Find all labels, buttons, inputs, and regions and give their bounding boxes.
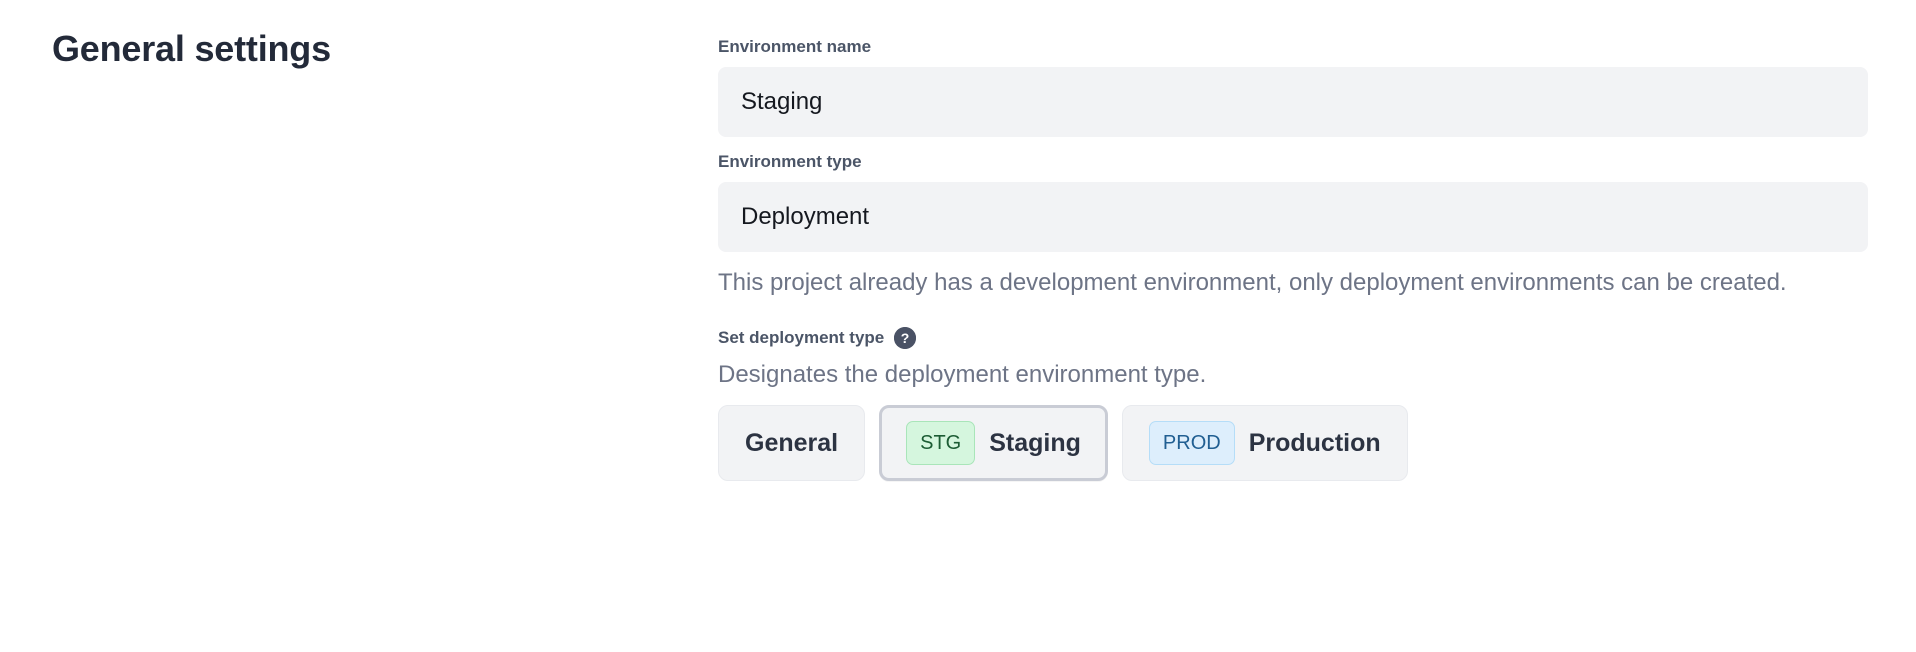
environment-type-input[interactable] [718, 182, 1868, 252]
environment-type-label: Environment type [718, 151, 1868, 173]
environment-name-field-group: Environment name [718, 36, 1868, 137]
deployment-option-general[interactable]: General [718, 405, 865, 481]
prod-badge: PROD [1149, 421, 1235, 465]
deployment-option-staging[interactable]: STG Staging [879, 405, 1108, 481]
general-settings-page: General settings Environment name Enviro… [0, 0, 1916, 652]
question-mark-icon[interactable]: ? [894, 327, 916, 349]
deployment-type-description: Designates the deployment environment ty… [718, 359, 1868, 391]
stg-badge: STG [906, 421, 975, 465]
deployment-type-block: Set deployment type ? Designates the dep… [718, 327, 1868, 481]
svg-text:?: ? [901, 330, 910, 346]
environment-type-help-text: This project already has a development e… [718, 266, 1838, 299]
environment-name-label: Environment name [718, 36, 1868, 58]
environment-type-field-group: Environment type This project already ha… [718, 151, 1868, 299]
deployment-type-options: General STG Staging PROD Production [718, 405, 1868, 481]
deployment-option-general-label: General [745, 428, 838, 458]
settings-form: Environment name Environment type This p… [718, 36, 1868, 481]
section-title-column: General settings [52, 26, 672, 72]
page-title: General settings [52, 26, 672, 72]
deployment-option-production-label: Production [1249, 428, 1381, 458]
deployment-type-label: Set deployment type [718, 327, 884, 349]
deployment-option-staging-label: Staging [989, 428, 1081, 458]
environment-name-input[interactable] [718, 67, 1868, 137]
deployment-type-label-row: Set deployment type ? [718, 327, 1868, 349]
deployment-option-production[interactable]: PROD Production [1122, 405, 1408, 481]
